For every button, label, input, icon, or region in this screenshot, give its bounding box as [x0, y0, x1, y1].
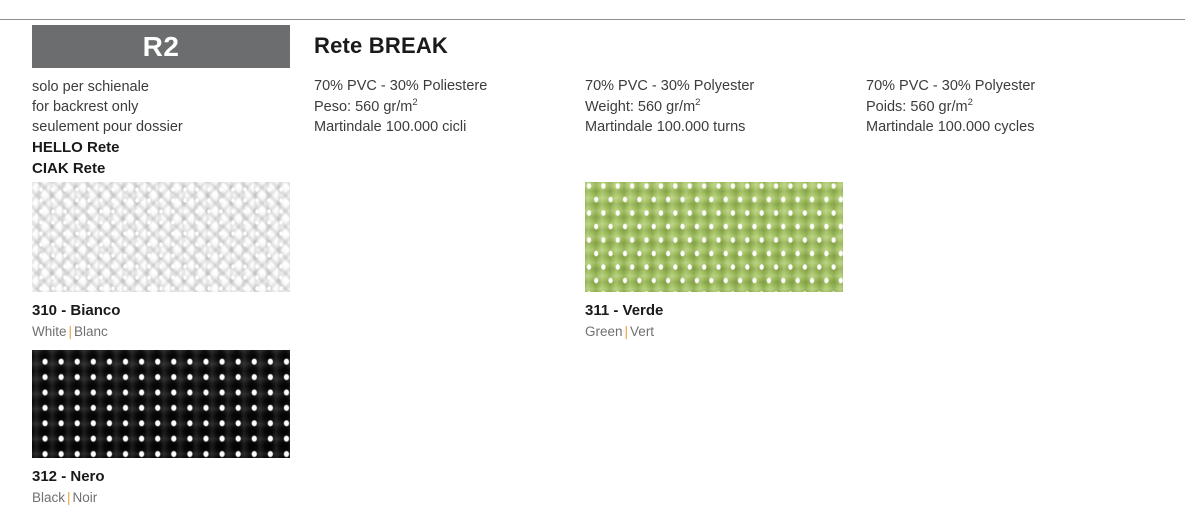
- swatch-image-312[interactable]: [32, 350, 290, 458]
- swatch-translations-312: Black|Noir: [32, 488, 290, 507]
- category-column: R2 solo per schienale for backrest only …: [32, 25, 290, 179]
- spec-column-en: 70% PVC - 30% Polyester Weight: 560 gr/m…: [585, 76, 754, 138]
- usage-notes: solo per schienale for backrest only seu…: [32, 77, 290, 179]
- swatch-name-312: 312 - Nero: [32, 467, 290, 487]
- swatch-image-310[interactable]: [32, 182, 290, 292]
- product-title: Rete BREAK: [314, 33, 448, 59]
- swatch-caption-312: 312 - Nero Black|Noir: [32, 467, 290, 507]
- swatch-name-en-311: Green: [585, 324, 623, 339]
- spec-weight-text-it: Peso: 560 gr/m: [314, 99, 412, 115]
- usage-note-en: for backrest only: [32, 97, 290, 117]
- swatch-name-311: 311 - Verde: [585, 301, 843, 321]
- spec-weight-superscript-it: 2: [412, 97, 417, 108]
- spec-martindale-it: Martindale 100.000 cicli: [314, 117, 487, 138]
- swatch-separator-311: |: [623, 324, 631, 339]
- usage-note-fr: seulement pour dossier: [32, 117, 290, 137]
- spec-composition-it: 70% PVC - 30% Poliestere: [314, 76, 487, 97]
- swatch-item-311[interactable]: 311 - Verde Green|Vert: [585, 182, 843, 341]
- swatch-item-310[interactable]: 310 - Bianco White|Blanc: [32, 182, 290, 341]
- swatch-name-310: 310 - Bianco: [32, 301, 290, 321]
- swatch-name-fr-312: Noir: [73, 490, 98, 505]
- swatch-name-en-310: White: [32, 324, 67, 339]
- swatch-item-312[interactable]: 312 - Nero Black|Noir: [32, 350, 290, 507]
- spec-column-fr: 70% PVC - 30% Polyester Poids: 560 gr/m2…: [866, 76, 1035, 138]
- spec-martindale-fr: Martindale 100.000 cycles: [866, 117, 1035, 138]
- spec-composition-en: 70% PVC - 30% Polyester: [585, 76, 754, 97]
- swatch-caption-311: 311 - Verde Green|Vert: [585, 301, 843, 341]
- usage-note-it: solo per schienale: [32, 77, 290, 97]
- swatch-separator-310: |: [67, 324, 75, 339]
- model-name-ciak: CIAK Rete: [32, 158, 290, 179]
- category-code-bar: R2: [32, 25, 290, 68]
- swatch-separator-312: |: [65, 490, 73, 505]
- spec-weight-en: Weight: 560 gr/m2: [585, 97, 754, 118]
- spec-weight-superscript-en: 2: [695, 97, 700, 108]
- swatch-name-en-312: Black: [32, 490, 65, 505]
- swatch-caption-310: 310 - Bianco White|Blanc: [32, 301, 290, 341]
- category-code-label: R2: [143, 33, 180, 61]
- swatch-name-fr-311: Vert: [630, 324, 654, 339]
- swatch-translations-310: White|Blanc: [32, 322, 290, 341]
- spec-column-it: 70% PVC - 30% Poliestere Peso: 560 gr/m2…: [314, 76, 487, 138]
- spec-composition-fr: 70% PVC - 30% Polyester: [866, 76, 1035, 97]
- spec-weight-fr: Poids: 560 gr/m2: [866, 97, 1035, 118]
- model-name-hello: HELLO Rete: [32, 137, 290, 158]
- spec-weight-it: Peso: 560 gr/m2: [314, 97, 487, 118]
- spec-weight-text-fr: Poids: 560 gr/m: [866, 99, 968, 115]
- spec-weight-superscript-fr: 2: [968, 97, 973, 108]
- swatch-name-fr-310: Blanc: [74, 324, 108, 339]
- top-divider: [0, 19, 1185, 20]
- swatch-translations-311: Green|Vert: [585, 322, 843, 341]
- spec-weight-text-en: Weight: 560 gr/m: [585, 99, 695, 115]
- spec-martindale-en: Martindale 100.000 turns: [585, 117, 754, 138]
- swatch-image-311[interactable]: [585, 182, 843, 292]
